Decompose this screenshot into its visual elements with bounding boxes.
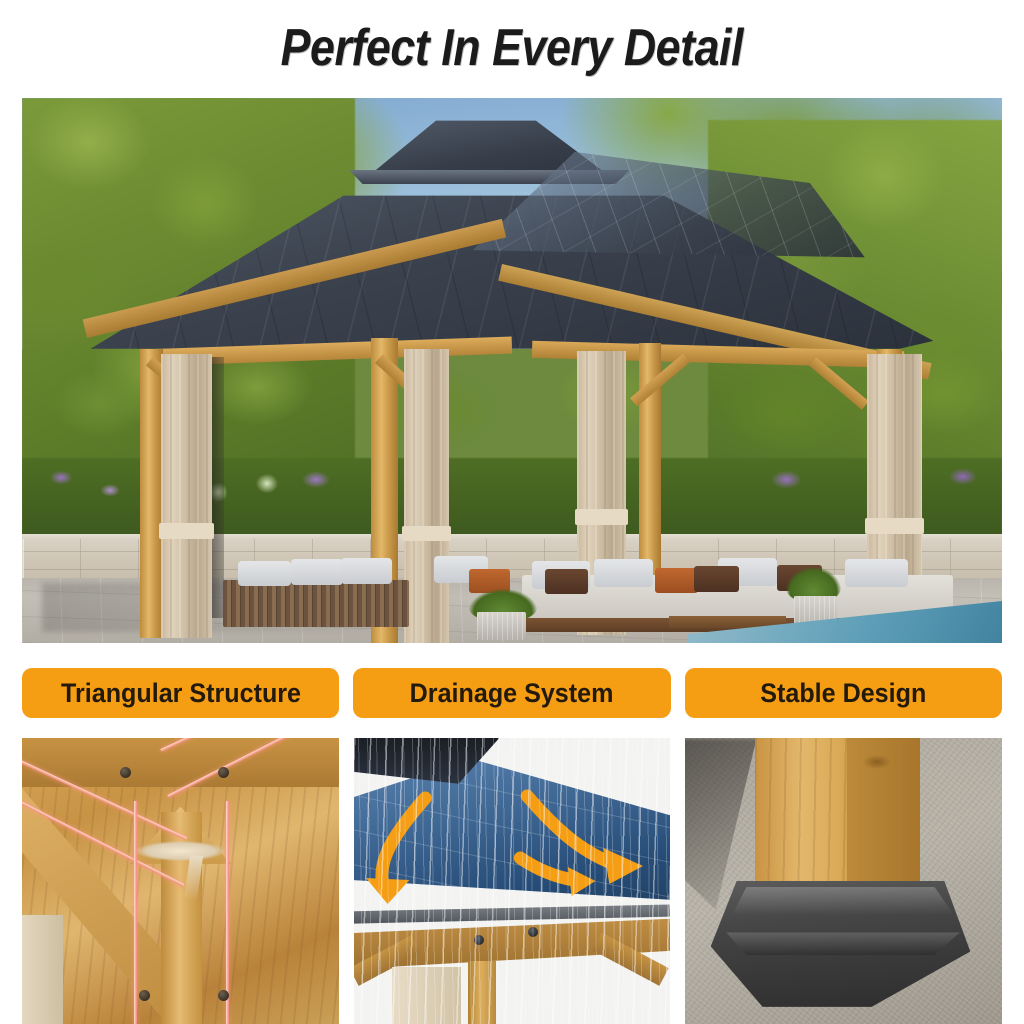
feature-detail-row — [22, 738, 1002, 1024]
accent-pillow-brown — [545, 569, 588, 594]
privacy-curtain — [22, 915, 63, 1024]
feature-badge-label: Stable Design — [760, 678, 926, 709]
bolt-fastener — [139, 990, 150, 1001]
triangular-structure-detail — [22, 738, 339, 1024]
bolt-fastener — [218, 767, 229, 778]
feature-badge-stable-design[interactable]: Stable Design — [685, 668, 1002, 718]
privacy-curtain — [161, 354, 212, 637]
curtain-tieback-bow — [136, 841, 225, 861]
accent-pillow-rust — [655, 568, 698, 593]
curtain-tieback — [575, 509, 628, 524]
rain-streaks-fine — [354, 738, 671, 1024]
sofa-cushion — [845, 559, 908, 587]
stable-design-detail — [685, 738, 1002, 1024]
horizontal-roof-beam — [22, 738, 339, 787]
hero-image — [22, 98, 1002, 643]
drainage-system-detail — [354, 738, 671, 1024]
base-plate-lip — [711, 932, 971, 955]
rattan-sofa-base — [223, 580, 409, 626]
base-plate-highlight — [717, 887, 964, 916]
gazebo-post — [140, 349, 164, 638]
accent-pillow-brown — [694, 566, 739, 592]
sofa-cushion — [238, 561, 291, 586]
sofa-cushion — [341, 558, 392, 584]
feature-badge-drainage-system[interactable]: Drainage System — [353, 668, 670, 718]
sofa-cushion — [594, 559, 653, 587]
curtain-tieback — [865, 518, 924, 534]
privacy-curtain — [404, 349, 449, 643]
curtain-tieback — [159, 523, 214, 539]
bolt-fastener — [218, 990, 229, 1001]
planter-pot — [477, 612, 526, 639]
sofa-cushion — [291, 559, 344, 585]
page-title-bar: Perfect In Every Detail — [0, 12, 1024, 84]
curtain-tieback — [402, 526, 451, 541]
feature-badge-triangular-structure[interactable]: Triangular Structure — [22, 668, 339, 718]
hero-scene — [22, 98, 1002, 643]
bolt-fastener — [120, 767, 131, 778]
highlight-guide-line — [134, 801, 137, 1024]
feature-badge-label: Triangular Structure — [61, 678, 301, 709]
page-title: Perfect In Every Detail — [281, 18, 743, 78]
feature-badge-label: Drainage System — [410, 678, 614, 709]
feature-badge-row: Triangular Structure Drainage System Sta… — [22, 668, 1002, 718]
